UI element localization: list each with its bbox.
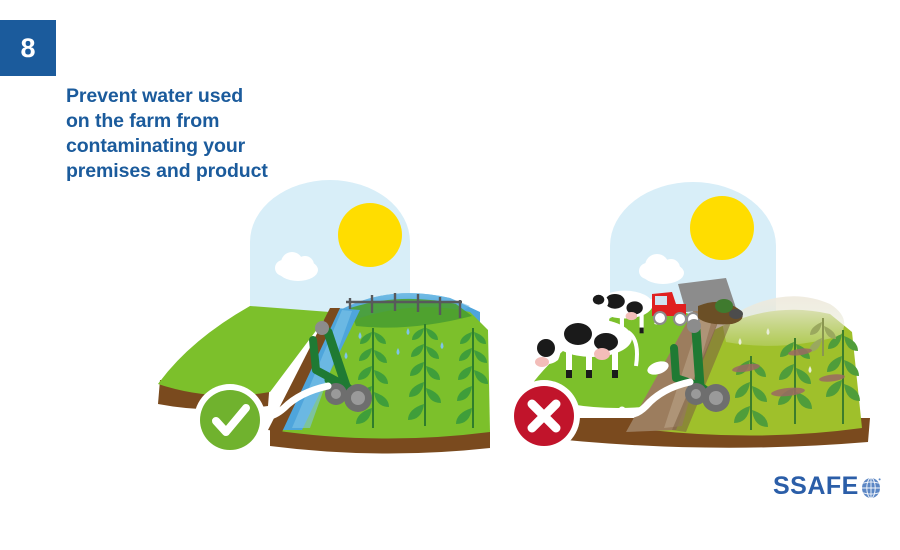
illustration-good-practice	[150, 180, 510, 465]
sun-icon	[690, 196, 754, 260]
ssafe-wordmark: SSAFE	[773, 474, 859, 499]
globe-icon	[860, 475, 882, 499]
status-badge-correct	[194, 384, 266, 456]
status-badge-incorrect	[508, 380, 580, 452]
sun-icon	[338, 203, 402, 267]
illustration-bad-practice	[500, 180, 890, 465]
step-number: 8	[20, 35, 35, 62]
slide-canvas: 8 Prevent water used on the farm from co…	[0, 0, 900, 550]
ssafe-logo: SSAFE	[773, 474, 882, 499]
step-number-badge: 8	[0, 20, 56, 76]
slide-title: Prevent water used on the farm from cont…	[66, 84, 366, 184]
